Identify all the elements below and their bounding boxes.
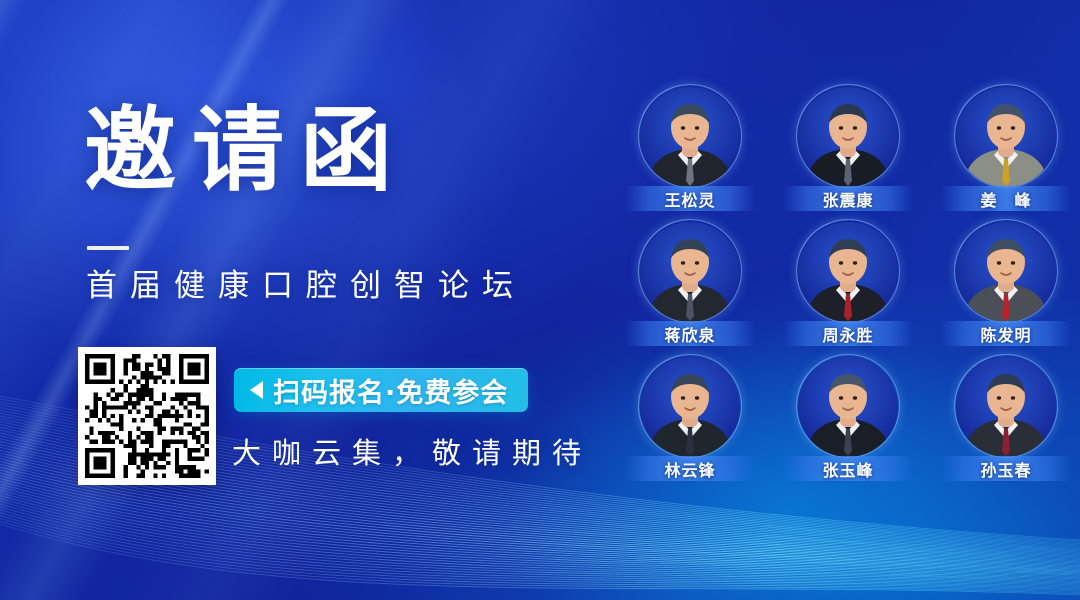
portrait-photo [640,87,740,187]
avatar-ring [796,219,900,323]
speaker-grid: 王松灵张震康姜 峰蒋欣泉周永胜陈发明林云锋张玉峰孙玉春 [620,84,1040,489]
speaker-nameplate: 姜 峰 [941,186,1071,211]
qr-code-image [85,354,209,478]
avatar-ring [954,219,1058,323]
speaker-name: 陈发明 [980,322,1031,346]
page-title: 邀请函 [84,105,408,197]
avatar [640,357,740,457]
portrait-photo [640,357,740,457]
speaker-card[interactable]: 张震康 [778,84,918,219]
qr-code[interactable] [78,347,216,485]
speaker-name: 周永胜 [822,322,873,346]
avatar-ring [638,84,742,188]
speaker-nameplate: 陈发明 [941,321,1071,346]
speaker-name: 蒋欣泉 [664,322,715,346]
speaker-nameplate: 王松灵 [625,186,755,211]
speaker-card[interactable]: 姜 峰 [936,84,1076,219]
tagline-text: 大咖云集，敬请期待 [232,430,592,472]
avatar-ring [638,219,742,323]
portrait-photo [798,87,898,187]
invitation-poster: 邀请函 首届健康口腔创智论坛 扫码报名·免费参会 大咖云集，敬请期待 王松灵张震… [0,0,1080,600]
avatar-ring [954,354,1058,458]
speaker-card[interactable]: 孙玉春 [936,354,1076,489]
portrait-photo [640,222,740,322]
speaker-name: 孙玉春 [980,457,1031,481]
speaker-card[interactable]: 蒋欣泉 [620,219,760,354]
speaker-name: 王松灵 [664,187,715,211]
triangle-left-icon [250,381,263,399]
avatar-ring [796,354,900,458]
portrait-photo [956,222,1056,322]
speaker-card[interactable]: 周永胜 [778,219,918,354]
speaker-nameplate: 蒋欣泉 [625,321,755,346]
portrait-photo [798,222,898,322]
speaker-card[interactable]: 陈发明 [936,219,1076,354]
speaker-card[interactable]: 林云锋 [620,354,760,489]
avatar [956,87,1056,187]
speaker-name: 林云锋 [664,457,715,481]
avatar [640,222,740,322]
avatar-ring [796,84,900,188]
avatar [956,357,1056,457]
speaker-card[interactable]: 王松灵 [620,84,760,219]
speaker-nameplate: 张玉峰 [783,456,913,481]
event-subtitle: 首届健康口腔创智论坛 [86,266,526,308]
speaker-card[interactable]: 张玉峰 [778,354,918,489]
speaker-nameplate: 周永胜 [783,321,913,346]
avatar [798,87,898,187]
avatar [798,222,898,322]
scan-to-register-button[interactable]: 扫码报名·免费参会 [234,368,528,412]
title-divider [87,246,129,250]
portrait-photo [956,87,1056,187]
scan-to-register-label: 扫码报名·免费参会 [273,371,508,410]
avatar-ring [954,84,1058,188]
avatar [798,357,898,457]
avatar-ring [638,354,742,458]
left-content-column: 邀请函 首届健康口腔创智论坛 扫码报名·免费参会 大咖云集，敬请期待 [0,0,600,600]
speaker-name: 姜 峰 [980,187,1031,211]
speaker-nameplate: 林云锋 [625,456,755,481]
speaker-nameplate: 张震康 [783,186,913,211]
portrait-photo [798,357,898,457]
speaker-nameplate: 孙玉春 [941,456,1071,481]
avatar [956,222,1056,322]
speaker-name: 张玉峰 [822,457,873,481]
avatar [640,87,740,187]
speaker-name: 张震康 [822,187,873,211]
portrait-photo [956,357,1056,457]
